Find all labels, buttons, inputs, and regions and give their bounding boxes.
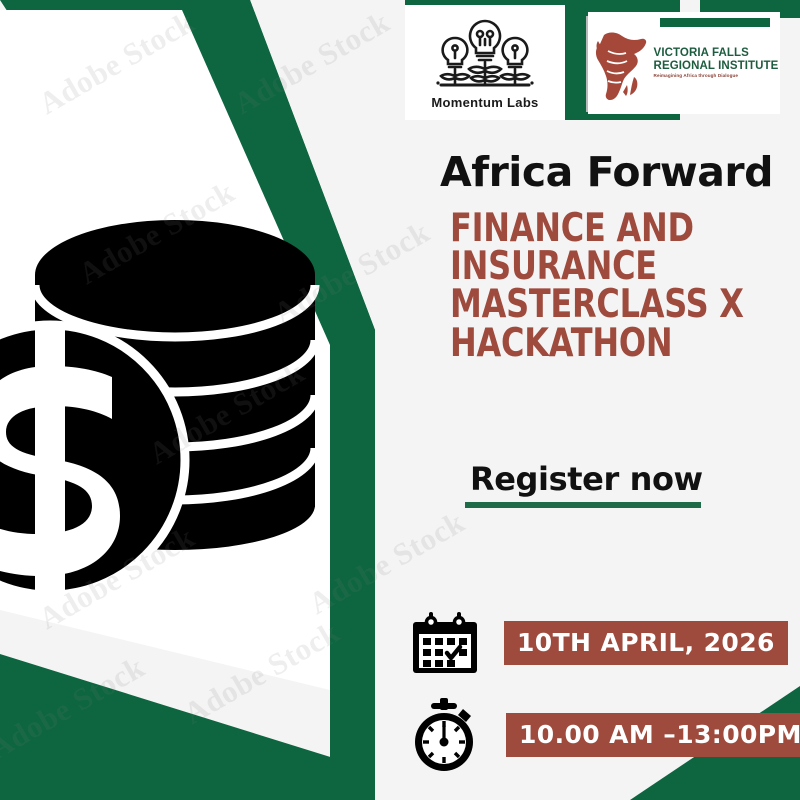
event-subtitle-line-4: HACKATHON: [450, 325, 737, 363]
logo-momentum-labs: Momentum Labs: [405, 5, 565, 120]
logo-divider: [586, 16, 588, 112]
stopwatch-icon: [410, 698, 480, 772]
poster-canvas: Adobe Stock Adobe Stock Adobe Stock Adob…: [0, 0, 800, 800]
event-date-row: 10TH APRIL, 2026: [412, 610, 788, 676]
event-time-badge: 10.00 AM –13:00PM: [506, 713, 800, 757]
event-subtitle: FINANCE AND INSURANCE MASTERCLASS X HACK…: [450, 210, 737, 363]
africa-eagle-map-icon: [594, 25, 650, 101]
event-subtitle-line-1: FINANCE AND: [450, 210, 737, 248]
three-lightbulb-plants-icon: [429, 15, 541, 93]
event-subtitle-line-3: MASTERCLASS X: [450, 286, 737, 324]
event-date-badge: 10TH APRIL, 2026: [504, 621, 788, 665]
register-now-label: Register now: [470, 460, 703, 498]
page-title: Africa Forward: [440, 152, 790, 193]
calendar-icon: [412, 610, 478, 676]
logo-vfri-tagline: Reimagining Africa through Dialogue: [654, 74, 779, 79]
register-underline: [465, 502, 701, 508]
logo-victoria-falls-regional-institute: VICTORIA FALLS REGIONAL INSTITUTE Reimag…: [588, 12, 780, 114]
event-time-row: 10.00 AM –13:00PM: [410, 698, 800, 772]
register-now-button[interactable]: Register now: [470, 460, 703, 508]
logo-vfri-line1: VICTORIA FALLS: [654, 47, 779, 59]
green-accent-bar: [660, 18, 770, 27]
event-subtitle-line-2: INSURANCE: [450, 248, 737, 286]
coin-stack-dollar-illustration: [0, 180, 350, 630]
logo-momentum-labs-caption: Momentum Labs: [431, 95, 538, 110]
logo-vfri-line2: REGIONAL INSTITUTE: [654, 60, 779, 72]
